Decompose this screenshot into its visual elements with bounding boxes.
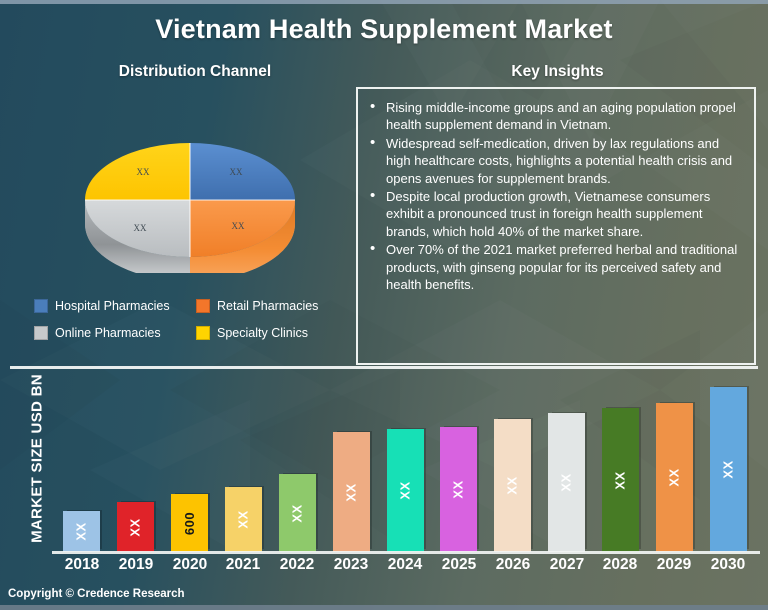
bar-value-label: XX	[74, 522, 89, 540]
legend-item-retail-pharmacies[interactable]: Retail Pharmacies	[196, 299, 356, 313]
x-axis-label-2026: 2026	[486, 556, 540, 574]
page-title: Vietnam Health Supplement Market	[0, 14, 768, 45]
legend-swatch-icon-retail	[196, 299, 210, 313]
bar-value-label: XX	[559, 473, 574, 491]
bar-2020[interactable]: 600	[171, 494, 208, 552]
x-axis-label-2021: 2021	[216, 556, 270, 574]
key-insight-item: Despite local production growth, Vietnam…	[368, 188, 742, 240]
x-axis-label-2027: 2027	[540, 556, 594, 574]
x-axis-label-2028: 2028	[593, 556, 647, 574]
bar-value-label: XX	[667, 468, 682, 486]
legend-item-hospital-pharmacies[interactable]: Hospital Pharmacies	[34, 299, 196, 313]
bar-2019[interactable]: XX	[117, 502, 154, 552]
bar-chart-plot-area: XXXX600XXXXXXXXXXXXXXXXXXXX	[55, 378, 755, 552]
top-border	[0, 0, 768, 4]
infographic-root: Vietnam Health Supplement Market Distrib…	[0, 0, 768, 610]
pie-chart-title: Distribution Channel	[70, 63, 320, 81]
pie-label-online: XX	[134, 223, 147, 233]
legend-label-specialty: Specialty Clinics	[217, 326, 308, 340]
bar-value-label: XX	[344, 483, 359, 501]
key-insight-item: Widespread self-medication, driven by la…	[368, 135, 742, 187]
pie-legend: Hospital Pharmacies Retail Pharmacies On…	[34, 292, 364, 346]
key-insights-box: Rising middle-income groups and an aging…	[356, 87, 756, 365]
bar-chart-axis-line	[52, 551, 760, 554]
copyright-text: Copyright © Credence Research	[8, 588, 185, 600]
bar-value-label: 600	[182, 511, 197, 534]
bar-value-label: XX	[505, 476, 520, 494]
legend-label-retail: Retail Pharmacies	[217, 299, 318, 313]
bar-chart-x-axis-labels: 2018201920202021202220232024202520262027…	[55, 556, 755, 582]
x-axis-label-2023: 2023	[324, 556, 378, 574]
bar-2021[interactable]: XX	[225, 487, 262, 552]
key-insight-item: Over 70% of the 2021 market preferred he…	[368, 241, 742, 293]
x-axis-label-2024: 2024	[378, 556, 432, 574]
key-insight-item: Rising middle-income groups and an aging…	[368, 99, 742, 134]
bar-value-label: XX	[236, 510, 251, 528]
bar-value-label: XX	[613, 471, 628, 489]
x-axis-label-2022: 2022	[270, 556, 324, 574]
bar-2025[interactable]: XX	[440, 427, 477, 552]
legend-label-online: Online Pharmacies	[55, 326, 161, 340]
bar-2026[interactable]: XX	[494, 419, 531, 552]
bar-value-label: XX	[721, 460, 736, 478]
legend-item-online-pharmacies[interactable]: Online Pharmacies	[34, 326, 196, 340]
distribution-channel-pie-chart: XX XX XX XX	[60, 128, 320, 273]
bar-2018[interactable]: XX	[63, 511, 100, 552]
legend-swatch-icon-online	[34, 326, 48, 340]
bar-value-label: XX	[398, 481, 413, 499]
bar-2022[interactable]: XX	[279, 474, 316, 552]
key-insights-title: Key Insights	[380, 63, 735, 81]
x-axis-label-2030: 2030	[701, 556, 755, 574]
bar-2024[interactable]: XX	[387, 429, 424, 552]
bar-2029[interactable]: XX	[656, 403, 693, 552]
key-insights-list: Rising middle-income groups and an aging…	[358, 89, 754, 293]
bar-2030[interactable]: XX	[710, 387, 747, 552]
legend-swatch-icon-hospital	[34, 299, 48, 313]
x-axis-label-2029: 2029	[647, 556, 701, 574]
bar-chart-y-axis-label: MARKET SIZE USD BN	[29, 369, 46, 549]
pie-label-retail: XX	[232, 221, 245, 231]
legend-item-specialty-clinics[interactable]: Specialty Clinics	[196, 326, 356, 340]
legend-label-hospital: Hospital Pharmacies	[55, 299, 170, 313]
bar-2028[interactable]: XX	[602, 408, 639, 552]
bar-2027[interactable]: XX	[548, 413, 585, 552]
x-axis-label-2019: 2019	[109, 556, 163, 574]
market-size-bar-chart: MARKET SIZE USD BN XXXX600XXXXXXXXXXXXXX…	[0, 372, 768, 610]
bar-value-label: XX	[290, 504, 305, 522]
pie-label-hospital: XX	[230, 167, 243, 177]
section-divider	[10, 366, 758, 369]
bar-value-label: XX	[128, 518, 143, 536]
x-axis-label-2025: 2025	[432, 556, 486, 574]
legend-swatch-icon-specialty	[196, 326, 210, 340]
bar-2023[interactable]: XX	[333, 432, 370, 552]
x-axis-label-2020: 2020	[163, 556, 217, 574]
pie-label-specialty: XX	[137, 167, 150, 177]
x-axis-label-2018: 2018	[55, 556, 109, 574]
bar-value-label: XX	[451, 480, 466, 498]
